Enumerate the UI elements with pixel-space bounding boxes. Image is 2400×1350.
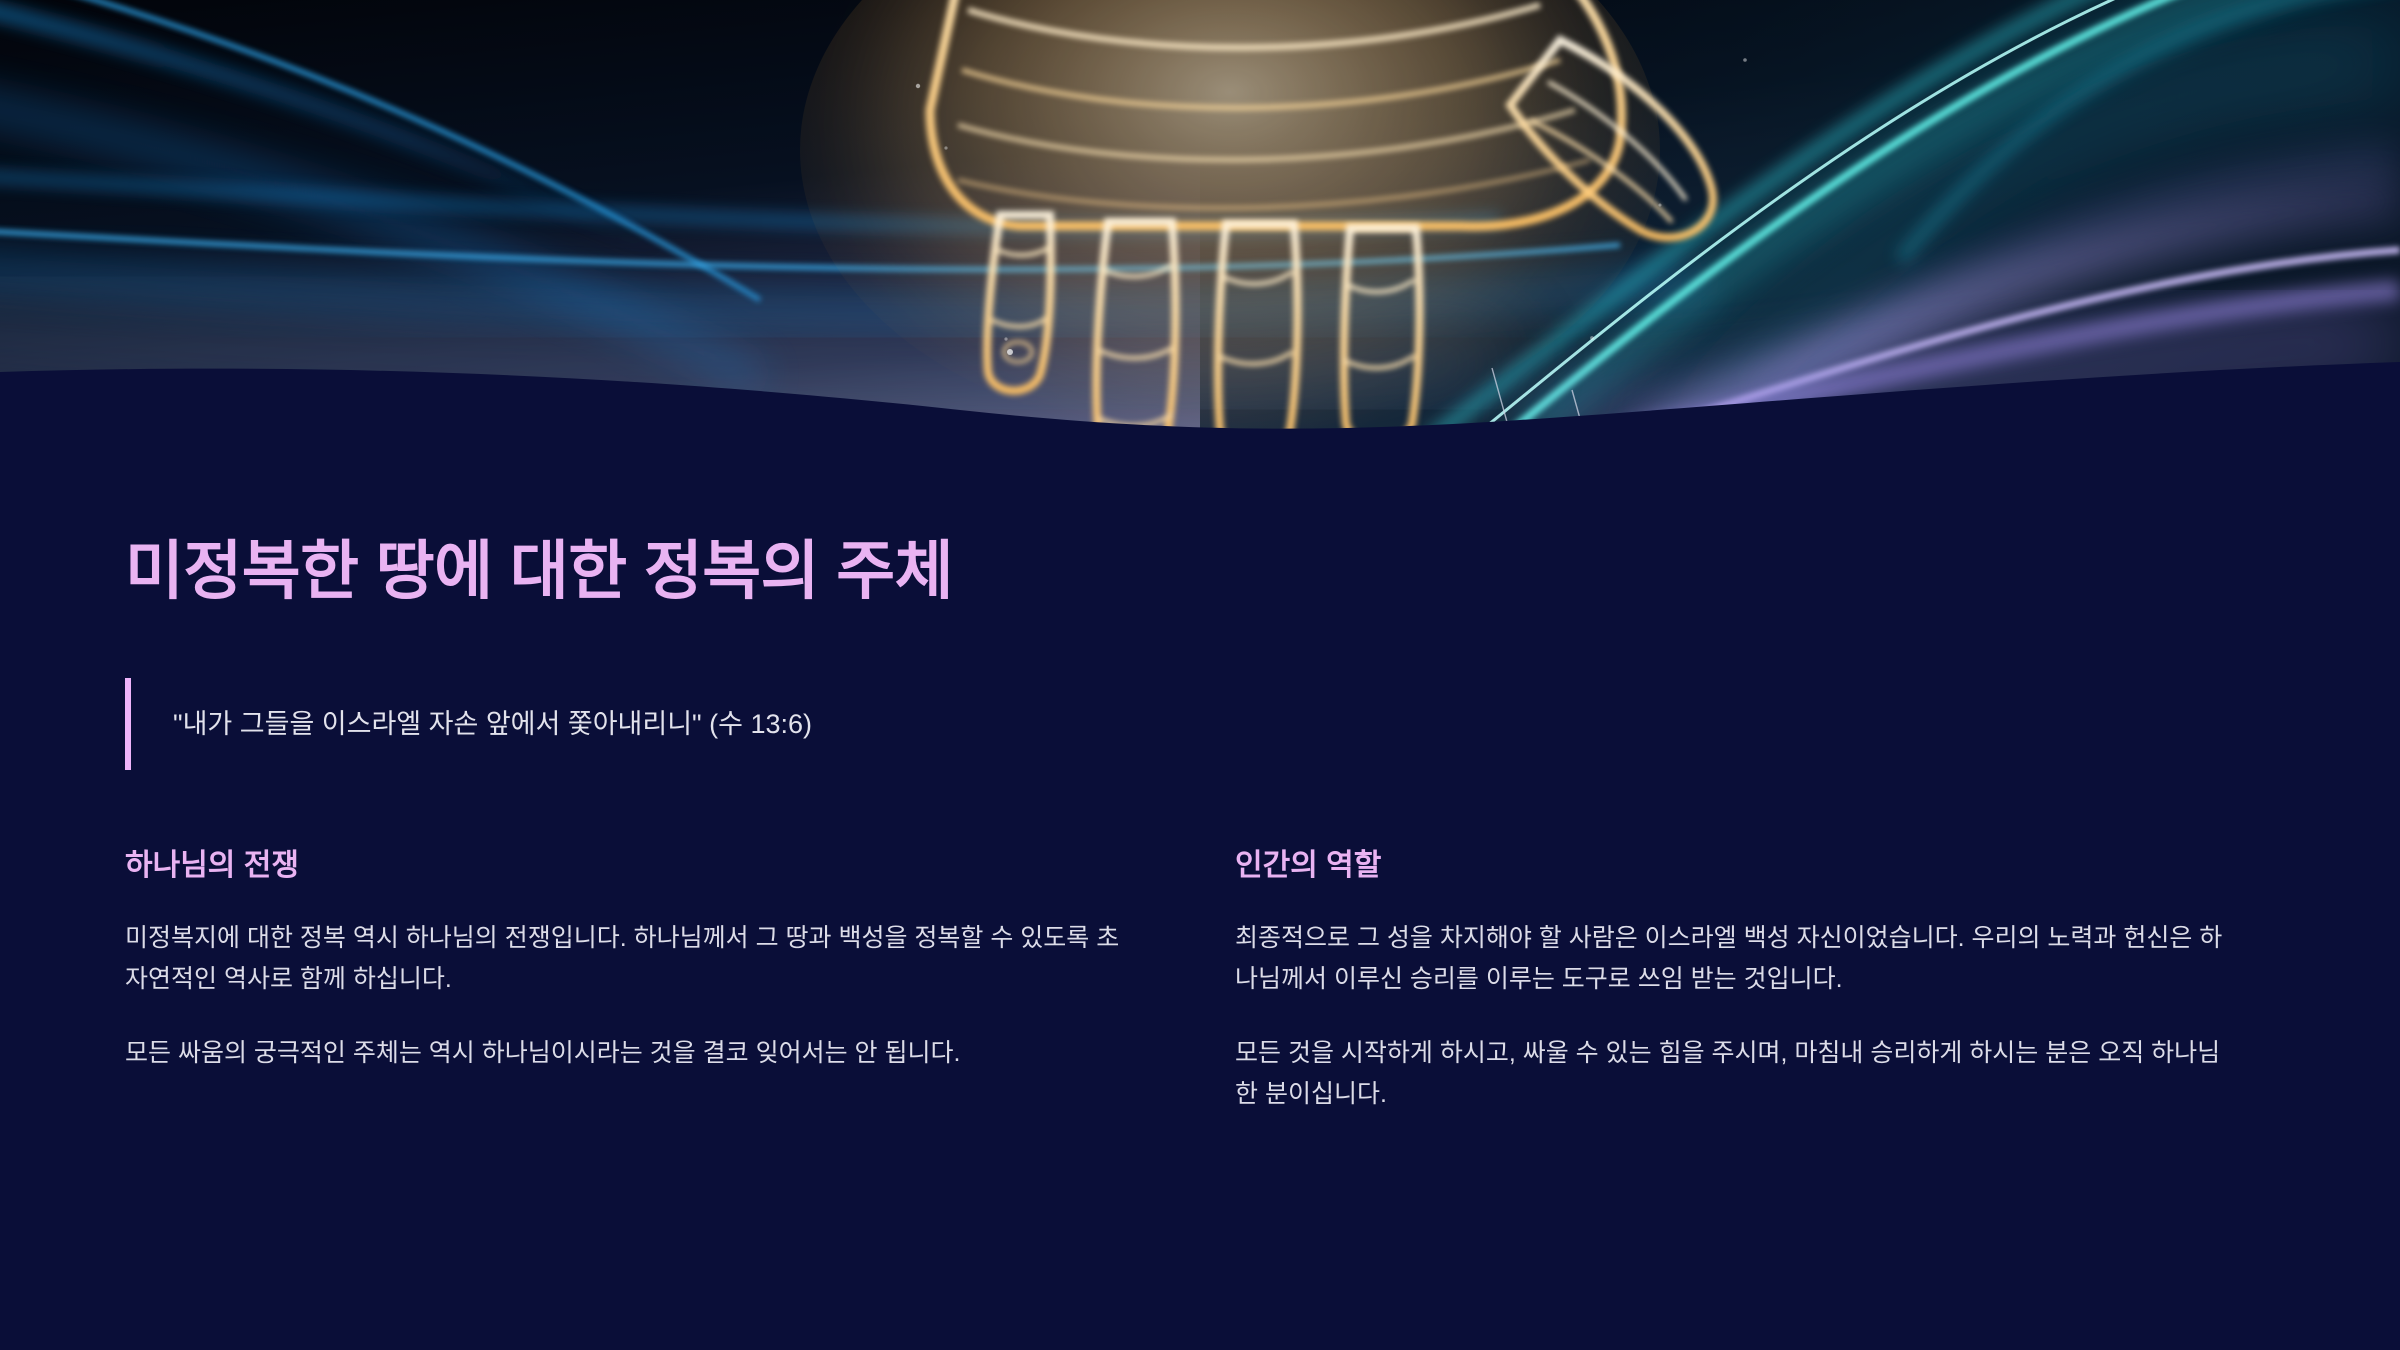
hero-banner: [0, 0, 2400, 440]
column-gods-war: 하나님의 전쟁 미정복지에 대한 정복 역시 하나님의 전쟁입니다. 하나님께서…: [125, 840, 1135, 1114]
scripture-quote-block: "내가 그들을 이스라엘 자손 앞에서 쫓아내리니" (수 13:6): [125, 678, 812, 770]
page-title: 미정복한 땅에 대한 정복의 주체: [125, 520, 953, 612]
column-paragraph: 최종적으로 그 성을 차지해야 할 사람은 이스라엘 백성 자신이었습니다. 우…: [1235, 918, 2245, 999]
hero-artwork: [0, 0, 2400, 440]
scripture-quote-text: "내가 그들을 이스라엘 자손 앞에서 쫓아내리니" (수 13:6): [173, 704, 812, 745]
column-paragraph: 모든 것을 시작하게 하시고, 싸울 수 있는 힘을 주시며, 마침내 승리하게…: [1235, 1033, 2245, 1114]
quote-accent-bar: [125, 678, 131, 770]
two-column-body: 하나님의 전쟁 미정복지에 대한 정복 역시 하나님의 전쟁입니다. 하나님께서…: [125, 840, 2285, 1114]
column-heading: 하나님의 전쟁: [125, 840, 1135, 884]
column-paragraph: 미정복지에 대한 정복 역시 하나님의 전쟁입니다. 하나님께서 그 땅과 백성…: [125, 918, 1135, 999]
column-human-role: 인간의 역할 최종적으로 그 성을 차지해야 할 사람은 이스라엘 백성 자신이…: [1235, 840, 2245, 1114]
column-paragraph: 모든 싸움의 궁극적인 주체는 역시 하나님이시라는 것을 결코 잊어서는 안 …: [125, 1033, 1135, 1074]
slide-content: 미정복한 땅에 대한 정복의 주체 "내가 그들을 이스라엘 자손 앞에서 쫓아…: [0, 440, 2400, 1350]
presentation-slide: 미정복한 땅에 대한 정복의 주체 "내가 그들을 이스라엘 자손 앞에서 쫓아…: [0, 0, 2400, 1350]
column-heading: 인간의 역할: [1235, 840, 2245, 884]
